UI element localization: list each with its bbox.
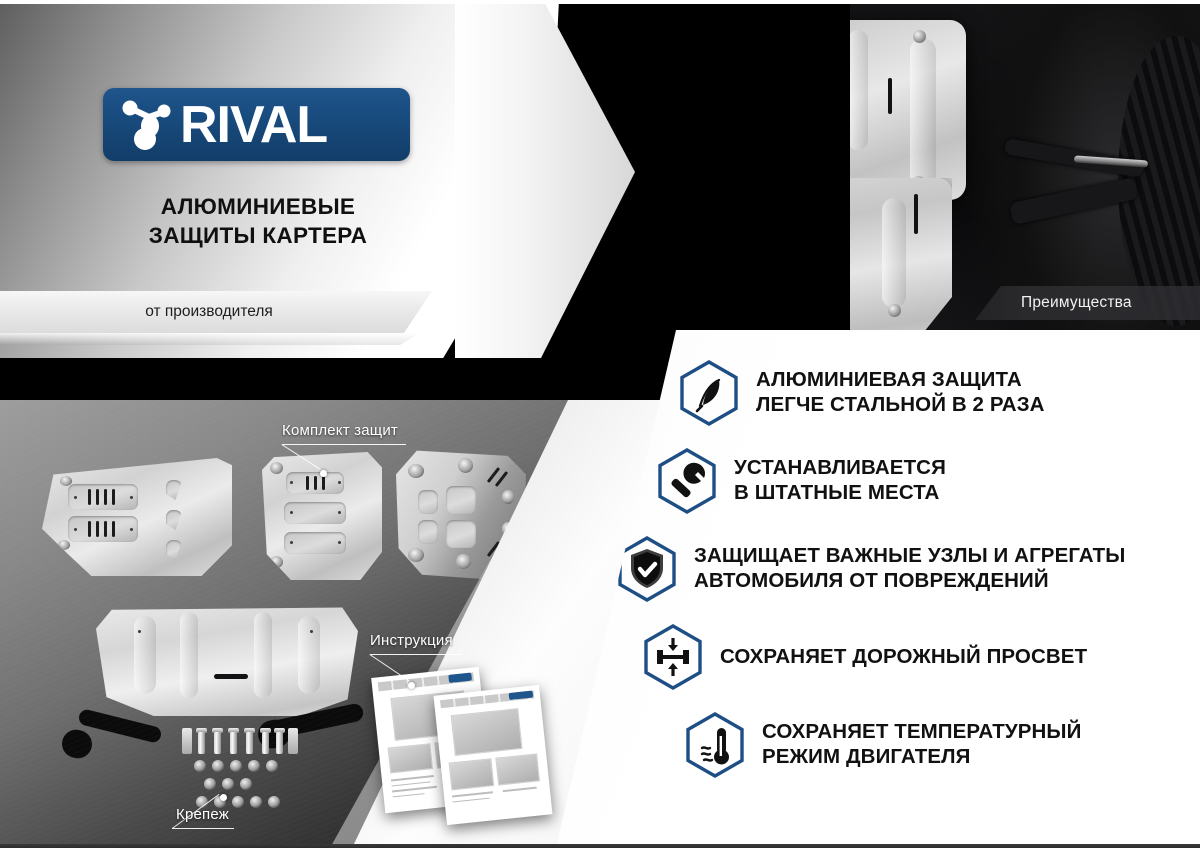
callout-underline-fasteners: [172, 828, 234, 829]
callout-dot-instruction: [408, 682, 415, 689]
advantage-item-weight: АЛЮМИНИЕВАЯ ЗАЩИТА ЛЕГЧЕ СТАЛЬНОЙ В 2 РА…: [678, 360, 1196, 426]
advantage-line-1: СОХРАНЯЕТ ДОРОЖНЫЙ ПРОСВЕТ: [720, 645, 1087, 668]
infographic-canvas: Преимущества RIVAL АЛЮМИНИЕВЫЕ ЗАЩИТЫ КА…: [0, 0, 1200, 848]
headline-line-1: АЛЮМИНИЕВЫЕ: [103, 193, 413, 222]
ground-clearance-icon: [642, 624, 704, 690]
callout-underline-set: [282, 444, 406, 445]
advantage-line-1: СОХРАНЯЕТ ТЕМПЕРАТУРНЫЙ: [762, 720, 1081, 743]
callout-dot-fasteners: [220, 794, 227, 801]
advantage-item-fitment: УСТАНАВЛИВАЕТСЯ В ШТАТНЫЕ МЕСТА: [656, 448, 1196, 514]
advantage-item-temperature: СОХРАНЯЕТ ТЕМПЕРАТУРНЫЙ РЕЖИМ ДВИГАТЕЛЯ: [684, 712, 1196, 778]
callout-label-set: Комплект защит: [282, 422, 398, 439]
advantage-line-1: АЛЮМИНИЕВАЯ ЗАЩИТА: [756, 368, 1022, 391]
callout-label-instruction: Инструкция: [370, 632, 453, 649]
manufacturer-ribbon-shadow: [0, 333, 420, 345]
molecule-icon: [116, 95, 178, 155]
frame-top: [0, 0, 1200, 4]
advantage-line-2: РЕЖИМ ДВИГАТЕЛЯ: [762, 745, 1081, 770]
leaf-icon: [678, 360, 740, 426]
frame-bottom: [0, 844, 1200, 848]
section-tab-label: Преимущества: [1021, 294, 1132, 312]
advantage-text: УСТАНАВЛИВАЕТСЯ В ШТАТНЫЕ МЕСТА: [734, 456, 946, 505]
skid-plate-front: [96, 598, 358, 716]
advantage-line-2: В ШТАТНЫЕ МЕСТА: [734, 481, 946, 506]
wrench-icon: [656, 448, 718, 514]
advantage-item-clearance: СОХРАНЯЕТ ДОРОЖНЫЙ ПРОСВЕТ: [642, 624, 1196, 690]
advantage-item-protection: ЗАЩИЩАЕТ ВАЖНЫЕ УЗЛЫ И АГРЕГАТЫ АВТОМОБИ…: [616, 536, 1196, 602]
callout-label-fasteners: Крепеж: [176, 806, 229, 823]
advantage-text: СОХРАНЯЕТ ТЕМПЕРАТУРНЫЙ РЕЖИМ ДВИГАТЕЛЯ: [762, 720, 1081, 769]
rival-logo: RIVAL: [103, 88, 410, 161]
advantage-text: АЛЮМИНИЕВАЯ ЗАЩИТА ЛЕГЧЕ СТАЛЬНОЙ В 2 РА…: [756, 368, 1045, 417]
brand-wordmark: RIVAL: [180, 99, 327, 151]
callout-underline-instruction: [370, 654, 462, 655]
advantage-line-2: ЛЕГЧЕ СТАЛЬНОЙ В 2 РАЗА: [756, 393, 1045, 418]
manufacturer-ribbon-label: от производителя: [145, 303, 287, 321]
mounting-bracket-right-eye: [255, 717, 292, 751]
advantage-line-2: АВТОМОБИЛЯ ОТ ПОВРЕЖДЕНИЙ: [694, 569, 1125, 594]
page-title: АЛЮМИНИЕВЫЕ ЗАЩИТЫ КАРТЕРА: [103, 193, 413, 251]
headline-line-2: ЗАЩИТЫ КАРТЕРА: [103, 222, 413, 251]
instruction-sheet-back: [433, 685, 552, 825]
callout-leader-fasteners: [172, 794, 220, 829]
skid-plate-large: [42, 458, 232, 576]
mounting-bracket-left-eye: [59, 727, 95, 761]
section-tab-advantages[interactable]: Преимущества: [975, 286, 1200, 320]
advantage-line-1: ЗАЩИЩАЕТ ВАЖНЫЕ УЗЛЫ И АГРЕГАТЫ: [694, 544, 1125, 567]
advantage-line-1: УСТАНАВЛИВАЕТСЯ: [734, 456, 946, 479]
advantage-text: ЗАЩИЩАЕТ ВАЖНЫЕ УЗЛЫ И АГРЕГАТЫ АВТОМОБИ…: [694, 544, 1125, 593]
callout-leader-set: [281, 444, 320, 470]
advantage-text: СОХРАНЯЕТ ДОРОЖНЫЙ ПРОСВЕТ: [720, 645, 1087, 670]
thermometer-icon: [684, 712, 746, 778]
mounting-bracket-left: [77, 708, 162, 744]
advantages-list: АЛЮМИНИЕВАЯ ЗАЩИТА ЛЕГЧЕ СТАЛЬНОЙ В 2 РА…: [656, 360, 1196, 800]
manufacturer-ribbon: от производителя: [0, 291, 432, 333]
mounting-bracket-right: [267, 702, 365, 740]
callout-dot-set: [320, 470, 327, 477]
skid-plate-middle: [262, 452, 382, 580]
